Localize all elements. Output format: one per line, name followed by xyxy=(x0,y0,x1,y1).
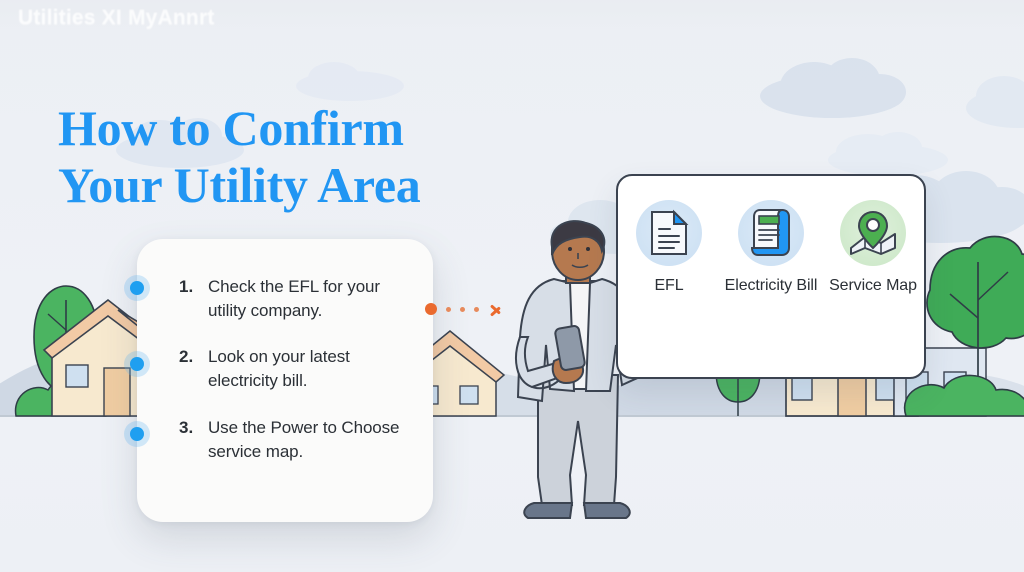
resource-item-map[interactable]: Service Map xyxy=(825,200,921,295)
bullet-dot-icon xyxy=(130,357,144,371)
list-item: 1. Check the EFL for your utility compan… xyxy=(179,275,411,323)
bullet-dot-icon xyxy=(130,427,144,441)
resources-card: EFL Electricity Bill xyxy=(616,174,926,379)
connector-dot-icon xyxy=(474,307,479,312)
efl-icon-disc xyxy=(636,200,702,266)
document-icon xyxy=(648,209,690,257)
bill-icon-disc xyxy=(738,200,804,266)
map-pin-icon xyxy=(848,210,898,256)
step-text: Look on your latest electricity bill. xyxy=(208,345,411,393)
resource-icons-row: EFL Electricity Bill xyxy=(618,200,924,295)
resource-label: Service Map xyxy=(829,276,917,295)
map-icon-disc xyxy=(840,200,906,266)
step-number: 3. xyxy=(179,416,198,464)
steps-card: 1. Check the EFL for your utility compan… xyxy=(137,239,433,522)
resource-item-efl[interactable]: EFL xyxy=(621,200,717,295)
connector-dot-icon xyxy=(460,307,465,312)
list-item: 3. Use the Power to Choose service map. xyxy=(179,416,411,464)
list-item: 2. Look on your latest electricity bill. xyxy=(179,345,411,393)
bullet-dot-icon xyxy=(130,281,144,295)
infographic-canvas: Utilities XI MyAnnrt How to Confirm Your… xyxy=(0,0,1024,572)
watermark-text: Utilities XI MyAnnrt xyxy=(18,6,215,30)
page-title: How to Confirm Your Utility Area xyxy=(58,100,528,214)
title-line-1: How to Confirm xyxy=(58,100,404,156)
step-number: 1. xyxy=(179,275,198,323)
step-number: 2. xyxy=(179,345,198,393)
step-text: Check the EFL for your utility company. xyxy=(208,275,411,323)
resource-item-bill[interactable]: Electricity Bill xyxy=(723,200,819,295)
resource-label: EFL xyxy=(654,276,683,295)
connector-dot-large-icon xyxy=(425,303,437,315)
step-text: Use the Power to Choose service map. xyxy=(208,416,411,464)
resource-label: Electricity Bill xyxy=(725,276,818,295)
steps-list: 1. Check the EFL for your utility compan… xyxy=(179,275,411,464)
title-line-2: Your Utility Area xyxy=(58,157,528,214)
receipt-bill-icon xyxy=(748,208,794,258)
connector-arrow xyxy=(425,300,502,318)
connector-dot-icon xyxy=(446,307,451,312)
